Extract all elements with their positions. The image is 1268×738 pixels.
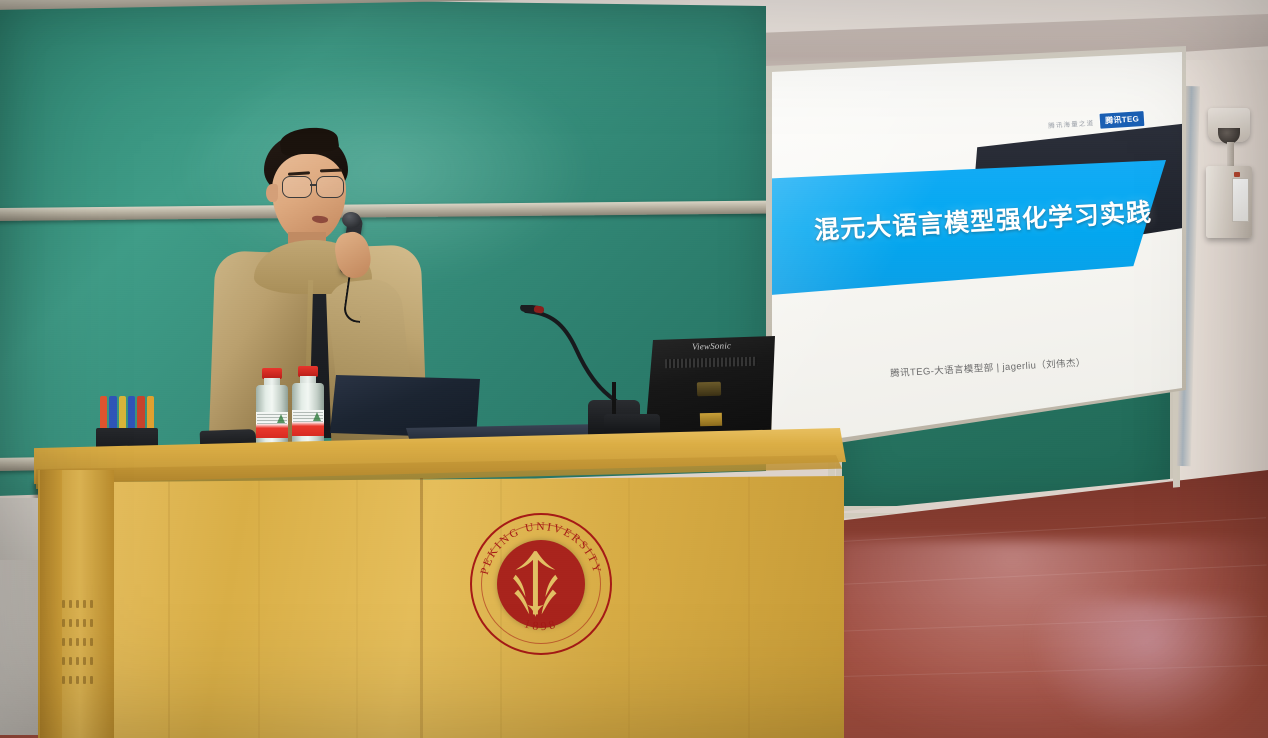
speaker-face xyxy=(272,154,346,242)
slide-logo: 腾讯海量之道 腾讯TEG xyxy=(1048,111,1145,132)
water-bottle-1[interactable] xyxy=(255,368,289,450)
monitor-badge xyxy=(700,413,722,427)
slide-subtitle: 腾讯TEG-大语言模型部 | jagerliu（刘伟杰） xyxy=(890,355,1086,380)
svg-text:1898: 1898 xyxy=(523,616,560,633)
water-bottle-2[interactable] xyxy=(291,366,325,448)
glasses-icon xyxy=(282,176,352,198)
projection-screen[interactable]: 腾讯海量之道 腾讯TEG 混元大语言模型强化学习实践 腾讯TEG-大语言模型部 … xyxy=(772,52,1182,448)
podium-vent-holes xyxy=(62,600,110,710)
monitor-mount-plate xyxy=(697,382,721,397)
ceiling-device-label xyxy=(1232,178,1249,222)
lecture-hall-photo: 腾讯海量之道 腾讯TEG 混元大语言模型强化学习实践 腾讯TEG-大语言模型部 … xyxy=(0,0,1268,738)
monitor-brand-label: ViewSonic xyxy=(692,340,731,351)
marker-set[interactable] xyxy=(100,396,154,430)
ceiling-device-stem xyxy=(1227,142,1234,168)
peking-university-crest-text: PEKING UNIVERSITY 1898 xyxy=(470,513,612,655)
floor-reflection-secondary xyxy=(1030,600,1268,738)
tencent-teg-badge: 腾讯TEG xyxy=(1100,111,1145,129)
presentation-slide: 腾讯海量之道 腾讯TEG 混元大语言模型强化学习实践 腾讯TEG-大语言模型部 … xyxy=(772,52,1182,448)
crest-year-text: 1898 xyxy=(523,616,560,633)
podium-panel-seam xyxy=(420,478,423,738)
crest-top-text: PEKING UNIVERSITY xyxy=(479,521,603,576)
svg-text:PEKING UNIVERSITY: PEKING UNIVERSITY xyxy=(479,521,603,576)
podium-left-leg xyxy=(40,470,62,738)
slide-logo-tagline: 腾讯海量之道 xyxy=(1048,117,1095,130)
ceiling-device-indicator xyxy=(1234,172,1240,177)
speaker-ear xyxy=(266,184,278,202)
